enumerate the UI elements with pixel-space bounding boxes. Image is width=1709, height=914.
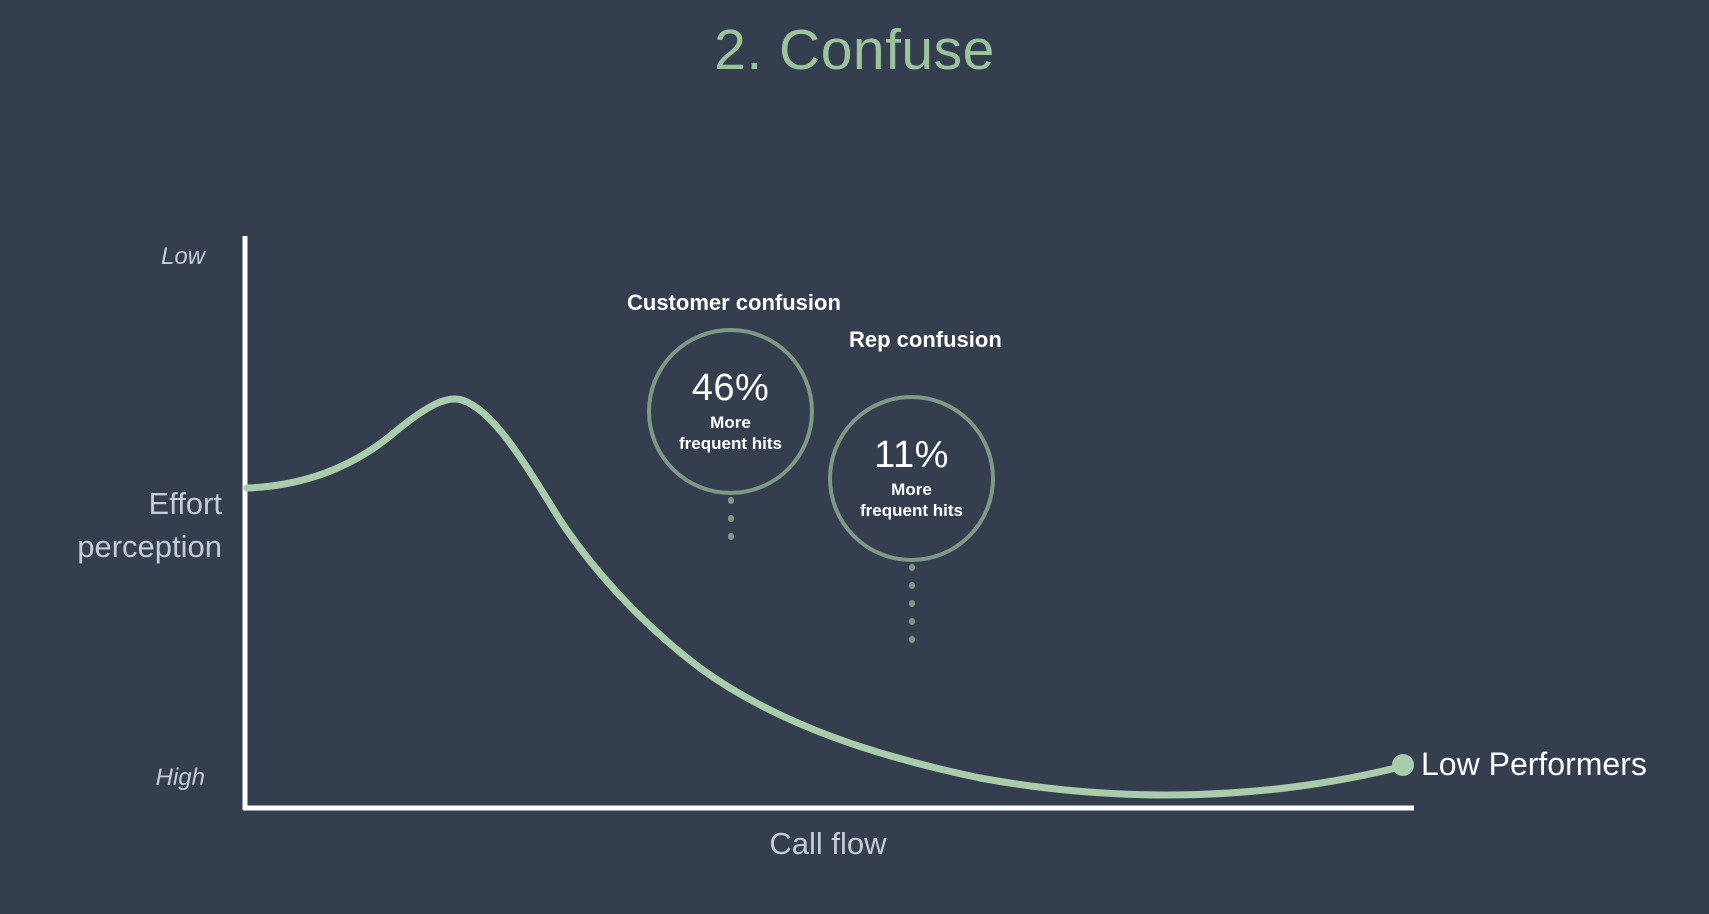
x-axis-title: Call flow (244, 826, 1412, 862)
y-axis-title-line-2: perception (0, 525, 222, 568)
y-axis-title-line-1: Effort (0, 482, 222, 525)
annotation-caption-customer-confusion: More frequent hits (679, 412, 782, 454)
chart-area: Low High Effort perception Call flow Cus… (0, 0, 1709, 914)
annotation-bubble-rep-confusion: 11% More frequent hits (828, 395, 995, 562)
annotation-caption-line-1: More (860, 479, 963, 500)
y-axis-bottom-label: High (0, 764, 205, 792)
annotation-title-customer-confusion: Customer confusion (627, 290, 841, 316)
series-endpoint-marker (1392, 754, 1414, 776)
annotation-caption-line-1: More (679, 412, 782, 433)
series-line-low-performers (247, 399, 1404, 795)
y-axis-title: Effort perception (0, 482, 222, 568)
annotation-bubble-customer-confusion: 46% More frequent hits (647, 328, 814, 495)
series-endpoint-label: Low Performers (1421, 746, 1647, 783)
annotation-value-customer-confusion: 46% (692, 369, 770, 409)
annotation-caption-line-2: frequent hits (679, 433, 782, 454)
annotation-caption-line-2: frequent hits (860, 500, 963, 521)
y-axis-top-label: Low (0, 243, 205, 271)
annotation-title-rep-confusion: Rep confusion (849, 327, 1002, 353)
annotation-value-rep-confusion: 11% (874, 436, 949, 476)
slide-root: 2. Confuse Low High Effort perception Ca… (0, 0, 1709, 914)
annotation-caption-rep-confusion: More frequent hits (860, 479, 963, 521)
